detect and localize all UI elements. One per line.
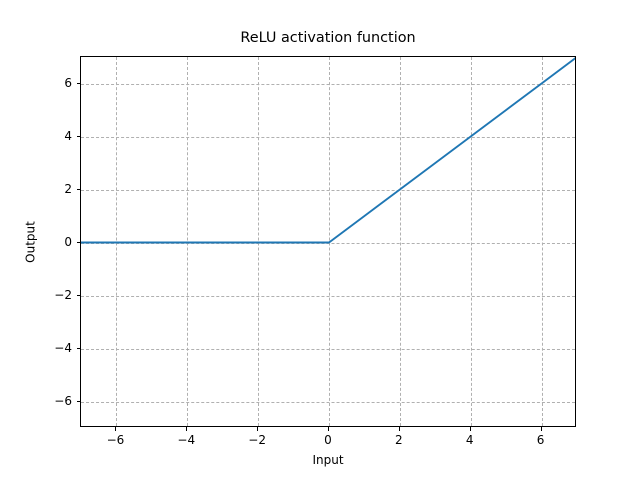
y-tick-label: 4 [10, 129, 72, 143]
y-tick-label: −6 [10, 394, 72, 408]
x-tick-mark [328, 427, 329, 431]
x-tick-label: −2 [227, 433, 287, 447]
chart-title: ReLU activation function [80, 30, 576, 47]
x-tick-mark [115, 427, 116, 431]
x-tick-mark [186, 427, 187, 431]
x-axis-label: Input [80, 453, 576, 467]
plot-inner-region [81, 57, 575, 426]
x-tick-label: 0 [298, 433, 358, 447]
y-tick-label: 6 [10, 76, 72, 90]
x-tick-mark [399, 427, 400, 431]
y-tick-mark [77, 83, 81, 84]
figure-canvas: ReLU activation function −6−4−20246 −6−4… [0, 0, 640, 480]
plot-axes-area [80, 56, 576, 427]
y-tick-label: 0 [10, 235, 72, 249]
y-tick-label: −4 [10, 341, 72, 355]
relu-line-series [81, 57, 575, 426]
y-tick-label: 2 [10, 182, 72, 196]
y-tick-label: −2 [10, 288, 72, 302]
y-tick-mark [77, 136, 81, 137]
y-tick-mark [77, 189, 81, 190]
x-tick-label: −6 [85, 433, 145, 447]
relu-polyline [81, 57, 575, 243]
y-axis-label: Output [24, 57, 38, 428]
y-tick-mark [77, 295, 81, 296]
x-tick-label: 6 [511, 433, 571, 447]
y-tick-mark [77, 401, 81, 402]
x-tick-label: 2 [369, 433, 429, 447]
x-tick-label: 4 [440, 433, 500, 447]
y-tick-mark [77, 242, 81, 243]
y-tick-mark [77, 348, 81, 349]
x-tick-mark [541, 427, 542, 431]
x-tick-mark [257, 427, 258, 431]
x-tick-mark [470, 427, 471, 431]
x-tick-label: −4 [156, 433, 216, 447]
